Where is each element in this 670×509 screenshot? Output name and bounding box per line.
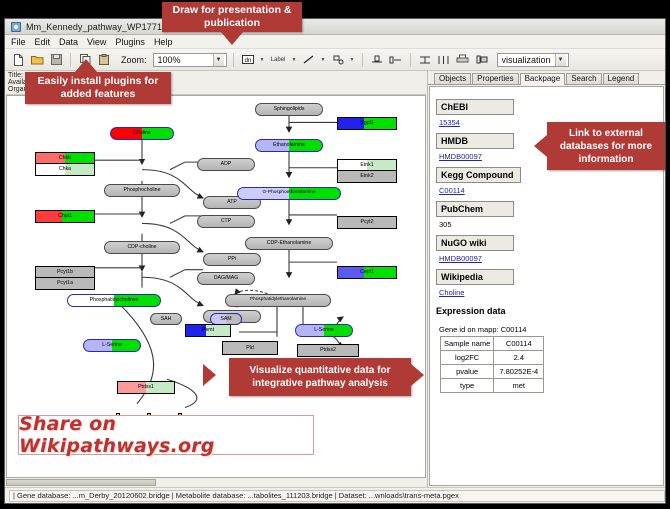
gene-box-pcyt1[interactable]: Pcyt1b Pcyt1a	[35, 266, 95, 290]
backpage-section-wikipedia-heading: Wikipedia	[436, 269, 514, 285]
backpage-section-hmdb-heading: HMDB	[436, 133, 514, 149]
backpage-section-kegg-heading: Kegg Compound	[436, 167, 521, 183]
table-cell-value: met	[494, 379, 544, 393]
visualization-value: visualization	[502, 55, 555, 65]
menu-item-help[interactable]: Help	[154, 37, 173, 47]
toolbar-separator	[70, 53, 71, 67]
table-cell-key: log2FC	[441, 351, 494, 365]
chevron-down-icon[interactable]: ▼	[349, 52, 356, 68]
save-icon[interactable]	[48, 52, 64, 68]
backpage-section-nugo-heading: NuGO wiki	[436, 235, 514, 251]
gene-label-pcyt2: Pcyt2	[338, 217, 396, 228]
backpage-value-pubchem: 305	[439, 220, 663, 229]
gene-box-pld[interactable]: Pld	[222, 341, 278, 355]
gene-id-on-mapp: Gene id on mapp: C00114	[439, 325, 663, 334]
callout-share-wikipathways: Share on Wikipathways.org	[18, 415, 314, 455]
gene-box-chk[interactable]: Chkb Chka	[35, 152, 95, 176]
metabolite-sphingolipids[interactable]: Sphingolipids	[255, 103, 323, 116]
callout-arrow-left-links	[534, 135, 547, 157]
chevron-down-icon[interactable]: ▼	[320, 52, 327, 68]
backpage-link-wikipedia[interactable]: Choline	[439, 288, 663, 297]
table-row: pvalue 7.80252E-4	[441, 365, 544, 379]
print-icon[interactable]	[455, 52, 471, 68]
metabolite-sah[interactable]: SAH	[150, 313, 182, 325]
table-cell-value: 2.4	[494, 351, 544, 365]
canvas-horizontal-scrollbar[interactable]	[6, 478, 426, 487]
metabolite-ctp[interactable]: CTP	[197, 215, 255, 228]
gene-label-pcyt1b: Pcyt1b	[36, 267, 94, 279]
gene-label-chpt1: Chpt1	[36, 211, 94, 222]
table-cell-key: Sample name	[441, 337, 494, 351]
callout-install-plugins: Easily install plugins for added feature…	[25, 72, 171, 104]
order-icon[interactable]	[474, 52, 490, 68]
menu-bar: File Edit Data View Plugins Help	[5, 35, 665, 49]
menu-item-view[interactable]: View	[87, 37, 106, 47]
zoom-combo[interactable]: 100% ▼	[153, 53, 227, 67]
tab-backpage[interactable]: Backpage	[520, 73, 566, 86]
gene-label-sgpl1: Sgpl1	[338, 118, 396, 129]
scrollbar-thumb[interactable]	[6, 479, 156, 486]
metabolite-phosphocholine[interactable]: Phosphocholine	[104, 184, 180, 197]
title-bar: Mm_Kennedy_pathway_WP1771_45176.gpml	[5, 19, 665, 35]
tab-search[interactable]: Search	[566, 73, 601, 85]
table-row: type met	[441, 379, 544, 393]
callout-arrow-down-draw	[221, 32, 243, 45]
backpage-section-chebi-heading: ChEBI	[436, 99, 514, 115]
chevron-down-icon[interactable]: ▼	[555, 54, 566, 66]
paste-icon[interactable]	[96, 52, 112, 68]
tab-legend[interactable]: Legend	[603, 73, 640, 85]
expression-data-table: Sample name C00114 log2FC 2.4 pvalue 7.8…	[440, 336, 544, 393]
gene-box-pcyt2[interactable]: Pcyt2	[337, 216, 397, 229]
distribute-icon[interactable]	[436, 52, 452, 68]
tab-properties[interactable]: Properties	[472, 73, 518, 85]
gene-box-ptdss1[interactable]: Ptdss1	[117, 381, 175, 394]
side-panel-tabs: Objects Properties Backpage Search Legen…	[428, 71, 665, 85]
metabolite-ppi[interactable]: PPi	[203, 253, 261, 266]
menu-item-file[interactable]: File	[11, 37, 26, 47]
callout-external-database-links: Link to external databases for more info…	[547, 122, 665, 170]
table-cell-value: 7.80252E-4	[494, 365, 544, 379]
label-icon[interactable]: Label	[269, 52, 288, 68]
metabolite-cdp-ethanolamine[interactable]: CDP-Ethanolamine	[245, 237, 333, 250]
gene-label-pemt: Pemt	[186, 325, 230, 336]
metabolite-dag-mag[interactable]: DAG/MAG	[197, 272, 255, 285]
metabolite-adp[interactable]: ADP	[197, 158, 255, 171]
backpage-link-nugo[interactable]: HMDB00097	[439, 254, 663, 263]
metabolite-o-phosphoethanolamine[interactable]: O-Phosphoethanolamine	[237, 187, 341, 200]
chevron-down-icon[interactable]: ▼	[259, 52, 266, 68]
gene-label-etnk1: Etnk1	[338, 160, 396, 172]
table-cell-key: pvalue	[441, 365, 494, 379]
zoom-label: Zoom:	[121, 55, 147, 65]
metabolite-l-serine-right[interactable]: L-Serine	[295, 324, 353, 337]
visualization-combo[interactable]: visualization ▼	[497, 53, 569, 67]
menu-item-data[interactable]: Data	[59, 37, 78, 47]
datanode-icon[interactable]: dn	[240, 52, 256, 68]
table-cell-key: type	[441, 379, 494, 393]
gene-label-ptdss1: Ptdss1	[118, 382, 174, 393]
callout-arrow-right-visualize-end	[411, 364, 424, 386]
metabolite-phosphatidylcholines[interactable]: Phosphatidylcholines	[67, 294, 161, 307]
toolbar-separator	[410, 53, 411, 67]
gene-box-etnk[interactable]: Etnk1 Etnk2	[337, 159, 397, 183]
gene-label-etnk2: Etnk2	[338, 171, 396, 182]
gene-box-ptdss2[interactable]: Ptdss2	[297, 344, 359, 357]
callout-arrow-up-plugins	[75, 59, 97, 72]
callout-arrow-right-visualize	[203, 364, 216, 386]
group-icon[interactable]	[388, 52, 404, 68]
table-cell-value: C00114	[494, 337, 544, 351]
callout-visualize-quantitative-data: Visualize quantitative data for integrat…	[229, 358, 411, 396]
gene-label-ptdss2: Ptdss2	[298, 345, 358, 356]
table-row: Sample name C00114	[441, 337, 544, 351]
backpage-section-pubchem-heading: PubChem	[436, 201, 514, 217]
gene-box-cept1[interactable]: Cept1	[337, 266, 397, 279]
align-icon[interactable]	[369, 52, 385, 68]
table-row: log2FC 2.4	[441, 351, 544, 365]
toolbar: Zoom: 100% ▼ dn ▼ Label ▼ ▼ ▼	[5, 49, 665, 71]
toolbar-separator	[233, 53, 234, 67]
chevron-down-icon[interactable]: ▼	[213, 54, 224, 66]
line-icon[interactable]	[301, 52, 317, 68]
metabolite-ethanolamine[interactable]: Ethanolamine	[255, 139, 323, 152]
anchor-icon[interactable]	[330, 52, 346, 68]
gene-label-chka: Chka	[36, 164, 94, 175]
expression-data-heading: Expression data	[436, 306, 663, 316]
gene-label-chkb: Chkb	[36, 153, 94, 165]
share-wikipathways-text: Share on Wikipathways.org	[19, 413, 313, 457]
metabolite-l-serine-left[interactable]: L-Serine	[83, 339, 141, 352]
status-bar: | Gene database: ...m_Derby_20120602.bri…	[5, 487, 665, 503]
backpage-link-kegg[interactable]: C00114	[439, 186, 663, 195]
menu-item-plugins[interactable]: Plugins	[115, 37, 145, 47]
gene-label-cept1: Cept1	[338, 267, 396, 278]
gene-box-pemt[interactable]: Pemt	[185, 324, 231, 337]
menu-item-edit[interactable]: Edit	[35, 37, 51, 47]
callout-draw-for-publication: Draw for presentation & publication	[162, 2, 302, 32]
metabolite-cdp-choline[interactable]: CDP-choline	[104, 241, 180, 254]
new-file-icon[interactable]	[10, 52, 26, 68]
tab-objects[interactable]: Objects	[434, 73, 471, 85]
metabolite-choline-top[interactable]: Choline	[110, 127, 174, 140]
zoom-value: 100%	[158, 55, 213, 65]
svg-text:dn: dn	[244, 58, 251, 64]
gene-label-pld: Pld	[223, 342, 277, 354]
toolbar-separator	[362, 53, 363, 67]
open-folder-icon[interactable]	[29, 52, 45, 68]
pathvisio-icon	[11, 22, 21, 32]
status-bar-text: | Gene database: ...m_Derby_20120602.bri…	[9, 490, 665, 502]
metabolite-phosphatidylethanolamine[interactable]: Phosphatidylethanolamine	[225, 294, 331, 307]
gene-box-chpt1[interactable]: Chpt1	[35, 210, 95, 223]
chevron-down-icon[interactable]: ▼	[291, 52, 298, 68]
gene-label-pcyt1a: Pcyt1a	[36, 278, 94, 289]
stack-icon[interactable]	[417, 52, 433, 68]
gene-box-sgpl1[interactable]: Sgpl1	[337, 117, 397, 130]
